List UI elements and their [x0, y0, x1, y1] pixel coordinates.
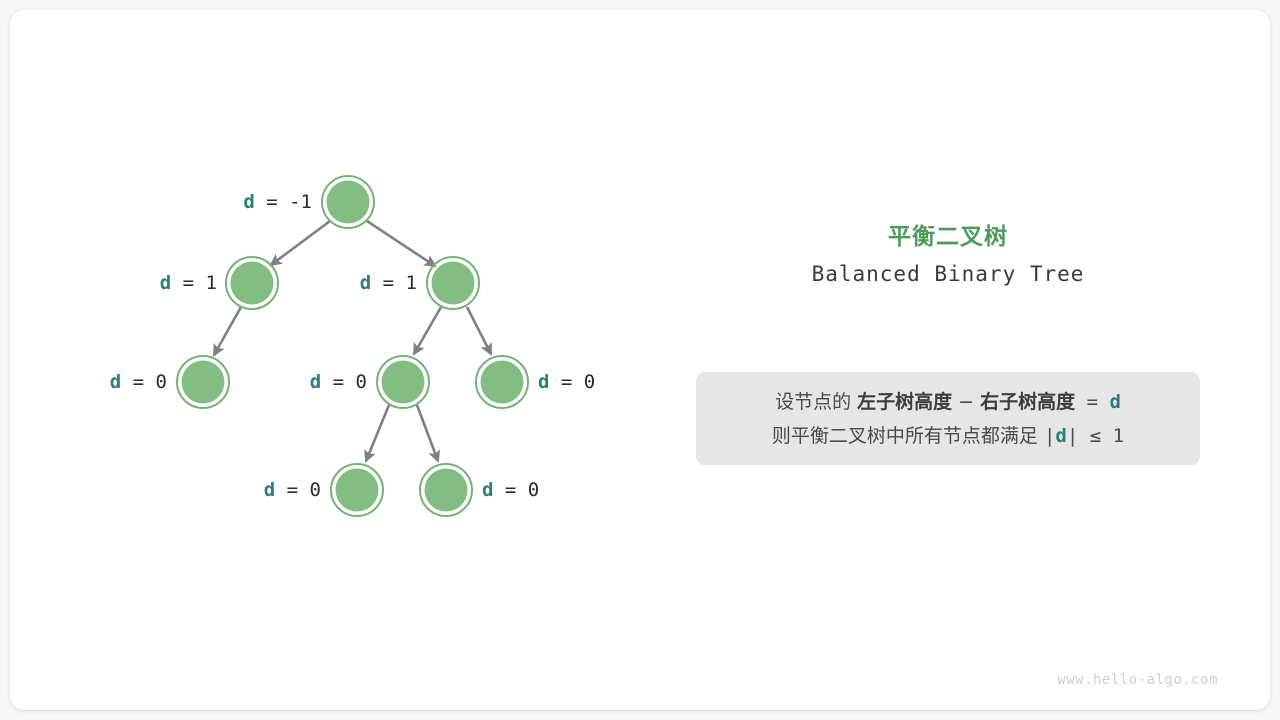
- d-symbol: d: [110, 371, 121, 393]
- tree-node-right-left-left[interactable]: [331, 464, 383, 516]
- balance-label-right-left-left: d = 0: [264, 479, 321, 501]
- definition-prefix: 则平衡二叉树中所有节点都满足: [772, 425, 1044, 447]
- balance-value: 0: [156, 371, 167, 393]
- equals-operator: =: [1075, 391, 1109, 413]
- balance-label-right-left: d = 0: [310, 371, 367, 393]
- balance-value: 1: [406, 272, 417, 294]
- balance-label-right: d = 1: [360, 272, 417, 294]
- d-symbol: d: [538, 371, 549, 393]
- eq-symbol: =: [549, 371, 583, 393]
- tree-node-left-left[interactable]: [177, 356, 229, 408]
- tree-node-right-left[interactable]: [377, 356, 429, 408]
- eq-symbol: =: [493, 479, 527, 501]
- edge-l-ll: [214, 307, 241, 355]
- balance-value: 0: [310, 479, 321, 501]
- d-symbol: d: [1055, 425, 1066, 447]
- balanced-binary-tree-diagram: [0, 0, 1280, 720]
- balance-label-left-left: d = 0: [110, 371, 167, 393]
- right-subtree-height-term: 右子树高度: [980, 391, 1075, 413]
- tree-node-right-left-right[interactable]: [420, 464, 472, 516]
- edge-r-rl: [414, 307, 441, 354]
- balance-label-right-left-right: d = 0: [482, 479, 539, 501]
- d-symbol: d: [310, 371, 321, 393]
- eq-symbol: =: [255, 191, 289, 213]
- balance-value: 0: [528, 479, 539, 501]
- d-symbol: d: [1109, 391, 1120, 413]
- panel-title: 平衡二叉树: [696, 222, 1200, 252]
- comparison-expression: ≤ 1: [1078, 425, 1124, 447]
- tree-node-root[interactable]: [322, 176, 374, 228]
- edge-rl-rlr: [417, 405, 438, 461]
- edge-root-right: [367, 221, 435, 266]
- balance-label-right-right: d = 0: [538, 371, 595, 393]
- edge-rl-rll: [366, 405, 389, 461]
- d-symbol: d: [243, 191, 254, 213]
- definition-line-2: 则平衡二叉树中所有节点都满足 |d| ≤ 1: [718, 419, 1178, 453]
- info-panel: 平衡二叉树 Balanced Binary Tree: [696, 222, 1200, 290]
- watermark: www.hello-algo.com: [1057, 672, 1218, 688]
- balance-label-left: d = 1: [160, 272, 217, 294]
- abs-bar-open: |: [1044, 425, 1055, 447]
- eq-symbol: =: [171, 272, 205, 294]
- definition-box: 设节点的 左子树高度 − 右子树高度 = d 则平衡二叉树中所有节点都满足 |d…: [696, 372, 1200, 465]
- d-symbol: d: [482, 479, 493, 501]
- tree-node-right[interactable]: [427, 257, 479, 309]
- eq-symbol: =: [321, 371, 355, 393]
- balance-value: -1: [289, 191, 312, 213]
- eq-symbol: =: [275, 479, 309, 501]
- abs-bar-close: |: [1067, 425, 1078, 447]
- eq-symbol: =: [121, 371, 155, 393]
- eq-symbol: =: [371, 272, 405, 294]
- balance-label-root: d = -1: [243, 191, 312, 213]
- left-subtree-height-term: 左子树高度: [857, 391, 952, 413]
- d-symbol: d: [360, 272, 371, 294]
- panel-subtitle: Balanced Binary Tree: [696, 258, 1200, 290]
- balance-value: 0: [356, 371, 367, 393]
- balance-value: 1: [206, 272, 217, 294]
- tree-node-right-right[interactable]: [476, 356, 528, 408]
- d-symbol: d: [264, 479, 275, 501]
- edge-root-left: [271, 221, 330, 265]
- definition-line-1: 设节点的 左子树高度 − 右子树高度 = d: [718, 385, 1178, 419]
- minus-operator: −: [952, 391, 980, 413]
- edge-r-rr: [467, 307, 491, 354]
- definition-prefix: 设节点的: [775, 391, 857, 413]
- balance-value: 0: [584, 371, 595, 393]
- tree-node-left[interactable]: [226, 257, 278, 309]
- d-symbol: d: [160, 272, 171, 294]
- tree-nodes: [177, 176, 528, 516]
